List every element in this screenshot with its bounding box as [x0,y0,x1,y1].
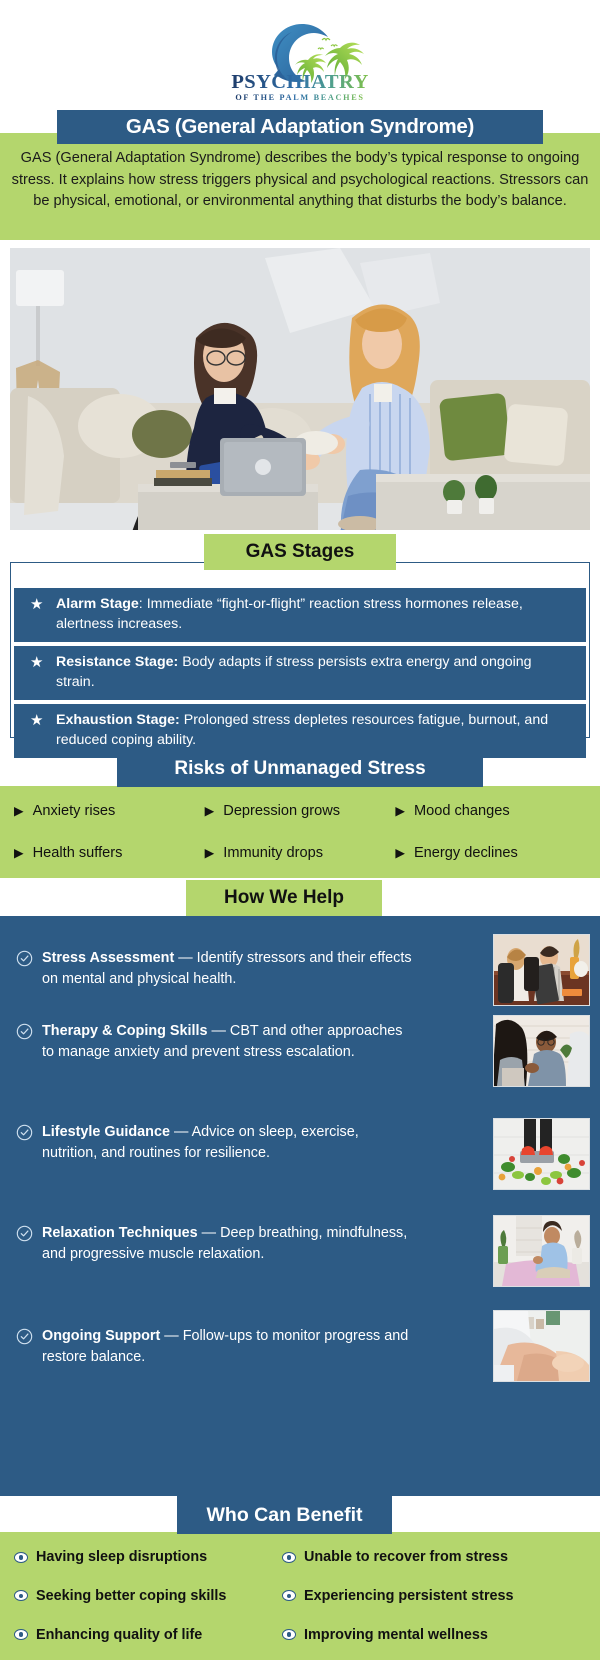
help-label: Ongoing Support [42,1328,160,1344]
help-dash: — [208,1023,230,1039]
help-text: Lifestyle Guidance — Advice on sleep, ex… [42,1122,427,1163]
circle-dot-icon [282,1629,296,1640]
who-can-benefit-heading: Who Can Benefit [177,1496,392,1534]
help-label: Relaxation Techniques [42,1225,198,1241]
triangle-right-icon: ▶ [395,805,405,818]
risk-item: ▶Mood changes [395,803,586,819]
benefit-item: Having sleep disruptions [14,1549,282,1565]
page-title: GAS (General Adaptation Syndrome) [57,110,543,144]
risk-item: ▶Immunity drops [205,845,396,861]
risk-label: Energy declines [414,845,518,861]
help-thumbnail [493,934,590,1006]
risk-label: Immunity drops [223,845,323,861]
risks-heading: Risks of Unmanaged Stress [117,751,483,787]
benefit-item: Experiencing persistent stress [282,1588,586,1604]
benefit-label: Unable to recover from stress [304,1549,508,1565]
help-dash: — [160,1328,182,1344]
help-text: Relaxation Techniques — Deep breathing, … [42,1223,427,1264]
check-circle-icon [16,1023,42,1040]
check-circle-icon [16,950,42,967]
risk-label: Anxiety rises [33,803,116,819]
help-item: Lifestyle Guidance — Advice on sleep, ex… [0,1122,600,1223]
help-label: Lifestyle Guidance [42,1124,170,1140]
infographic-page: PSYCHIATRY OF THE PALM BEACHES GAS (Gene… [0,0,600,1660]
help-dash: — [198,1225,220,1241]
help-text: Stress Assessment — Identify stressors a… [42,948,427,989]
stage-row: ★ Alarm Stage: Immediate “fight-or-fligh… [14,588,586,642]
triangle-right-icon: ▶ [395,847,405,860]
benefit-label: Enhancing quality of life [36,1627,202,1643]
help-dash: — [174,950,196,966]
check-circle-icon [16,1124,42,1141]
circle-dot-icon [282,1552,296,1563]
help-thumbnail [493,1015,590,1087]
help-label: Stress Assessment [42,950,174,966]
stage-label: Alarm Stage [56,596,139,612]
logo-subwordmark: OF THE PALM BEACHES [235,93,364,102]
circle-dot-icon [14,1590,28,1601]
star-icon: ★ [26,711,56,730]
risk-item: ▶Anxiety rises [14,803,205,819]
logo-artwork: PSYCHIATRY OF THE PALM BEACHES [214,16,386,108]
help-item: Stress Assessment — Identify stressors a… [0,920,600,1021]
risk-label: Mood changes [414,803,510,819]
help-item: Therapy & Coping Skills — CBT and other … [0,1021,600,1122]
risk-item: ▶Depression grows [205,803,396,819]
circle-dot-icon [14,1552,28,1563]
stage-label: Resistance Stage: [56,654,178,670]
stage-separator: : [139,596,147,612]
benefit-label: Experiencing persistent stress [304,1588,514,1604]
stage-text: Exhaustion Stage: Prolonged stress deple… [56,711,574,750]
benefit-label: Improving mental wellness [304,1627,488,1643]
hero-illustration [10,248,590,530]
triangle-right-icon: ▶ [14,805,24,818]
help-thumbnail [493,1310,590,1382]
who-can-benefit-list: Having sleep disruptions Unable to recov… [14,1538,586,1654]
gas-stages-heading: GAS Stages [204,534,396,570]
stage-text: Alarm Stage: Immediate “fight-or-flight”… [56,595,574,634]
stage-text: Resistance Stage: Body adapts if stress … [56,653,574,692]
brand-logo: PSYCHIATRY OF THE PALM BEACHES [0,16,600,108]
gas-stages-box: ★ Alarm Stage: Immediate “fight-or-fligh… [10,562,590,738]
birds-icon [318,39,337,50]
risk-label: Health suffers [33,845,123,861]
hero-image [10,248,590,530]
risk-item: ▶Energy declines [395,845,586,861]
help-text: Therapy & Coping Skills — CBT and other … [42,1021,427,1062]
circle-dot-icon [14,1629,28,1640]
stage-label: Exhaustion Stage: [56,712,180,728]
check-circle-icon [16,1328,42,1345]
risk-label: Depression grows [223,803,340,819]
benefit-item: Enhancing quality of life [14,1627,282,1643]
how-we-help-list: Stress Assessment — Identify stressors a… [0,920,600,1427]
risk-item: ▶Health suffers [14,845,205,861]
triangle-right-icon: ▶ [205,805,215,818]
help-dash: — [170,1124,192,1140]
star-icon: ★ [26,595,56,614]
benefit-item: Unable to recover from stress [282,1549,586,1565]
triangle-right-icon: ▶ [205,847,215,860]
how-we-help-heading: How We Help [186,880,382,916]
circle-dot-icon [282,1590,296,1601]
benefit-item: Seeking better coping skills [14,1588,282,1604]
help-thumbnail [493,1118,590,1190]
help-item: Ongoing Support — Follow-ups to monitor … [0,1326,600,1427]
benefit-item: Improving mental wellness [282,1627,586,1643]
intro-paragraph: GAS (General Adaptation Syndrome) descri… [10,148,590,213]
benefit-label: Having sleep disruptions [36,1549,207,1565]
check-circle-icon [16,1225,42,1242]
stage-row: ★ Exhaustion Stage: Prolonged stress dep… [14,704,586,758]
help-text: Ongoing Support — Follow-ups to monitor … [42,1326,427,1367]
triangle-right-icon: ▶ [14,847,24,860]
logo-wordmark: PSYCHIATRY [231,71,368,93]
help-label: Therapy & Coping Skills [42,1023,208,1039]
risks-list: ▶Anxiety rises ▶Depression grows ▶Mood c… [14,790,586,874]
help-thumbnail [493,1215,590,1287]
star-icon: ★ [26,653,56,672]
benefit-label: Seeking better coping skills [36,1588,226,1604]
stage-row: ★ Resistance Stage: Body adapts if stres… [14,646,586,700]
